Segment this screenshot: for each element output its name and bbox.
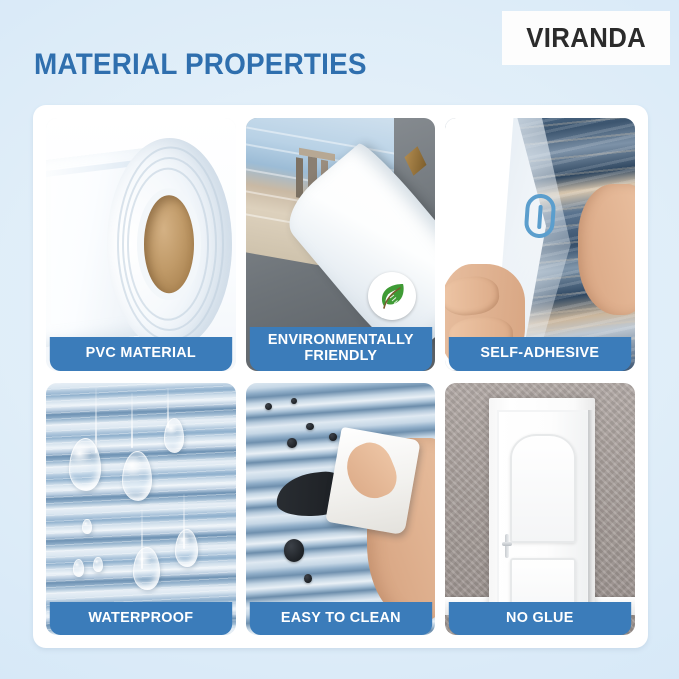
- feature-label-self-adhesive: SELF-ADHESIVE: [449, 337, 631, 370]
- easy-to-clean-image: [246, 383, 436, 636]
- paperclip-icon: [523, 193, 556, 239]
- label-line-1: ENVIRONMENTALLY: [253, 332, 427, 348]
- brand-logo-box: VIRANDA: [502, 11, 670, 65]
- pvc-roll-image: [46, 118, 236, 371]
- stain-spot: [284, 539, 305, 562]
- water-droplet: [133, 547, 160, 590]
- feature-label-environmentally-friendly: ENVIRONMENTALLY FRIENDLY: [249, 327, 431, 370]
- door-frame: [489, 398, 595, 635]
- brand-name: VIRANDA: [526, 22, 646, 54]
- water-droplet: [73, 559, 84, 577]
- pvc-roll-shape: [107, 138, 232, 350]
- stain-spot: [329, 433, 337, 441]
- feature-label-no-glue: NO GLUE: [449, 602, 631, 635]
- water-droplet: [82, 519, 91, 534]
- page-title: MATERIAL PROPERTIES: [34, 48, 367, 82]
- door-handle: [502, 534, 513, 559]
- roll-cardboard-core: [144, 195, 194, 293]
- feature-tile-environmentally-friendly[interactable]: ENVIRONMENTALLY FRIENDLY: [246, 118, 436, 371]
- leaf-icon: [376, 280, 408, 312]
- waterproof-image: [46, 383, 236, 636]
- self-adhesive-image: [445, 118, 635, 371]
- water-droplet: [69, 438, 101, 491]
- label-line-2: FRIENDLY: [253, 348, 427, 364]
- water-droplet: [175, 529, 198, 567]
- stain-spot: [291, 398, 297, 404]
- feature-grid: PVC MATERIAL: [46, 118, 635, 635]
- water-droplet: [93, 557, 102, 572]
- feature-label-easy-to-clean: EASY TO CLEAN: [249, 602, 431, 635]
- feature-card: PVC MATERIAL: [33, 105, 648, 648]
- feature-label-waterproof: WATERPROOF: [50, 602, 232, 635]
- feature-tile-easy-to-clean[interactable]: EASY TO CLEAN: [246, 383, 436, 636]
- feature-tile-no-glue[interactable]: NO GLUE: [445, 383, 635, 636]
- no-glue-image: [445, 383, 635, 636]
- feature-tile-self-adhesive[interactable]: SELF-ADHESIVE: [445, 118, 635, 371]
- roll-core-tip: [404, 146, 426, 176]
- feature-tile-pvc-material[interactable]: PVC MATERIAL: [46, 118, 236, 371]
- door-panel-top: [510, 434, 576, 542]
- feature-tile-waterproof[interactable]: WATERPROOF: [46, 383, 236, 636]
- feature-label-pvc-material: PVC MATERIAL: [50, 337, 232, 370]
- stain-spot: [287, 438, 296, 448]
